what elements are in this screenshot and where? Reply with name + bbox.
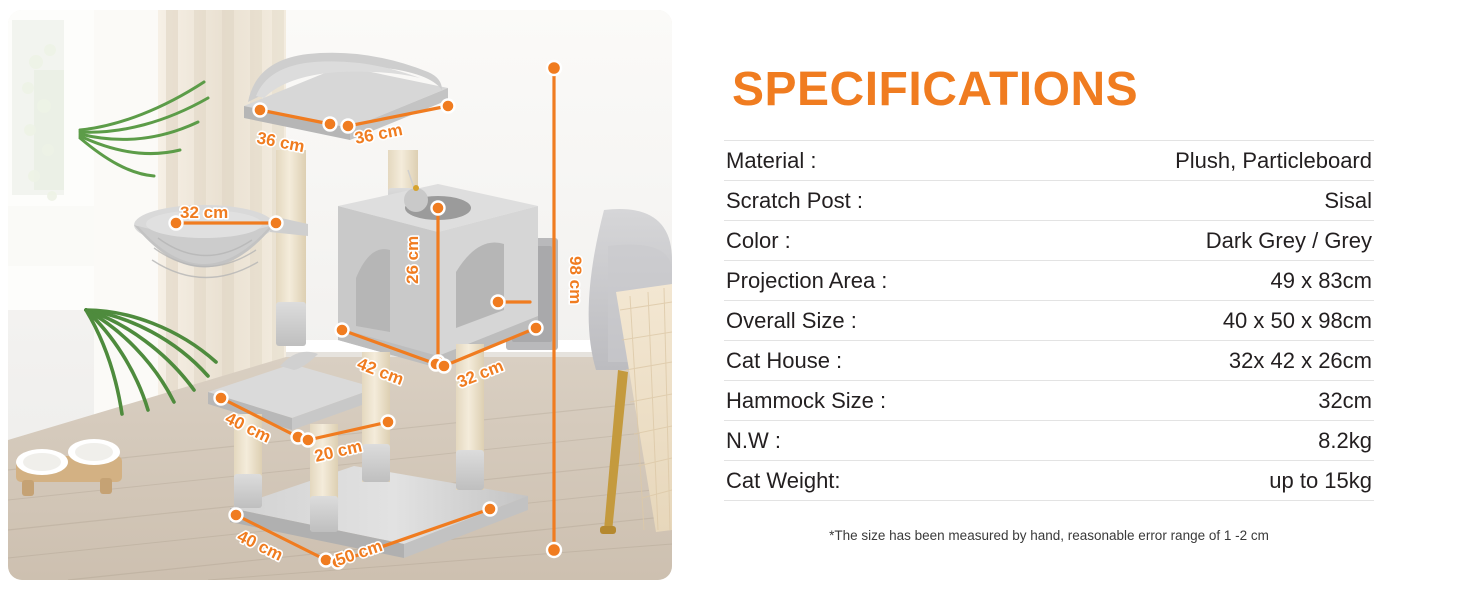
table-row: Overall Size : 40 x 50 x 98cm <box>724 301 1374 341</box>
specifications-table: Material : Plush, Particleboard Scratch … <box>724 140 1374 501</box>
spec-value-overall-size: 40 x 50 x 98cm <box>1023 301 1374 341</box>
table-row: Color : Dark Grey / Grey <box>724 221 1374 261</box>
specifications-panel: SPECIFICATIONS Material : Plush, Particl… <box>724 0 1384 600</box>
product-photo-illustration: 36 cm 36 cm 32 cm 26 cm 42 cm 32 cm 40 c… <box>8 10 672 580</box>
table-row: Projection Area : 49 x 83cm <box>724 261 1374 301</box>
spec-value-projection-area: 49 x 83cm <box>1023 261 1374 301</box>
callout-label-hammock-diameter: 32 cm <box>180 203 228 222</box>
spec-key-nw: N.W : <box>724 421 1023 461</box>
spec-key-hammock-size: Hammock Size : <box>724 381 1023 421</box>
spec-key-material: Material : <box>724 141 1023 181</box>
spec-value-scratch-post: Sisal <box>1023 181 1374 221</box>
spec-value-cat-house: 32x 42 x 26cm <box>1023 341 1374 381</box>
spec-key-scratch-post: Scratch Post : <box>724 181 1023 221</box>
spec-value-material: Plush, Particleboard <box>1023 141 1374 181</box>
specifications-title: SPECIFICATIONS <box>732 62 1138 117</box>
table-row: N.W : 8.2kg <box>724 421 1374 461</box>
spec-key-cat-weight: Cat Weight: <box>724 461 1023 501</box>
spec-value-cat-weight: up to 15kg <box>1023 461 1374 501</box>
window <box>8 10 104 310</box>
callout-label-cat-house-height: 26 cm <box>403 236 422 284</box>
table-row: Cat House : 32x 42 x 26cm <box>724 341 1374 381</box>
table-row: Cat Weight: up to 15kg <box>724 461 1374 501</box>
spec-key-color: Color : <box>724 221 1023 261</box>
callout-label-overall-height: 98 cm <box>566 256 585 304</box>
spec-value-nw: 8.2kg <box>1023 421 1374 461</box>
table-row: Scratch Post : Sisal <box>724 181 1374 221</box>
specification-banner: 36 cm 36 cm 32 cm 26 cm 42 cm 32 cm 40 c… <box>0 0 1464 600</box>
spec-value-hammock-size: 32cm <box>1023 381 1374 421</box>
product-photo: 36 cm 36 cm 32 cm 26 cm 42 cm 32 cm 40 c… <box>8 10 672 580</box>
table-row: Material : Plush, Particleboard <box>724 141 1374 181</box>
spec-value-color: Dark Grey / Grey <box>1023 221 1374 261</box>
measurement-disclaimer: *The size has been measured by hand, rea… <box>724 528 1374 543</box>
spec-key-overall-size: Overall Size : <box>724 301 1023 341</box>
spec-key-projection-area: Projection Area : <box>724 261 1023 301</box>
table-row: Hammock Size : 32cm <box>724 381 1374 421</box>
spec-key-cat-house: Cat House : <box>724 341 1023 381</box>
